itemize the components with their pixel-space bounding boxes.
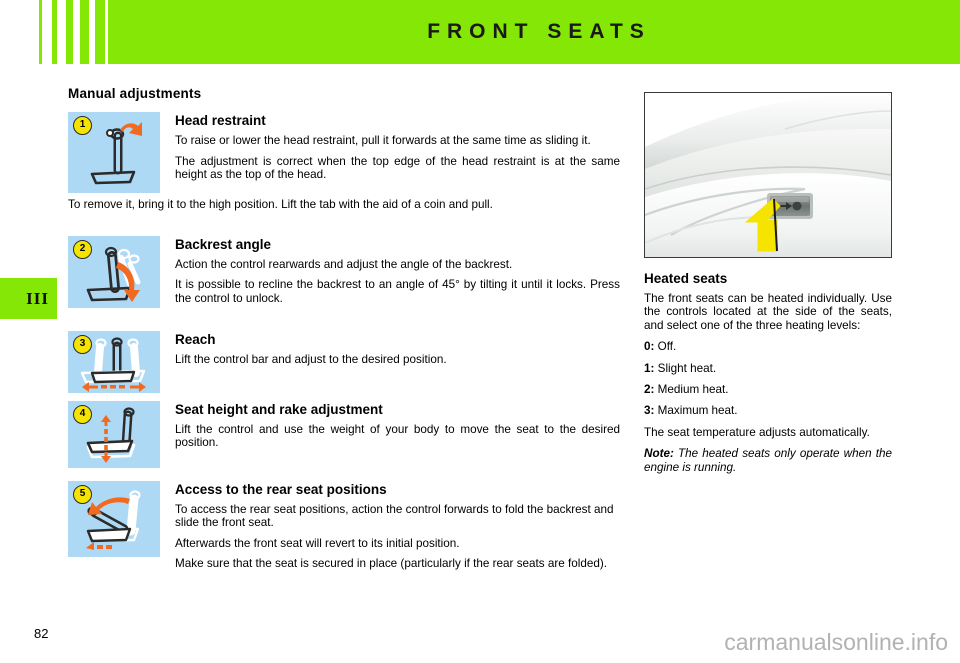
heating-level-item: 0: Off. xyxy=(644,340,892,353)
seat-access-rear-icon: 5 xyxy=(68,481,160,557)
chapter-tab: III xyxy=(0,278,57,319)
seat-backrest-angle-icon: 2 xyxy=(68,236,160,308)
header-stripe xyxy=(39,0,42,64)
section-title: Manual adjustments xyxy=(68,86,620,101)
block-paragraph: It is possible to recline the backrest t… xyxy=(175,278,620,305)
heated-seats-note: Note: The heated seats only operate when… xyxy=(644,447,892,474)
site-watermark: carmanualsonline.info xyxy=(724,629,948,656)
block-heading: Head restraint xyxy=(175,113,620,128)
heated-seats-heading: Heated seats xyxy=(644,271,892,286)
manual-adjustment-block: 4 Seat height and rake adjustment Lift t… xyxy=(68,401,620,468)
heating-level-key: 0: xyxy=(644,340,654,353)
right-column: Heated seats The front seats can be heat… xyxy=(644,92,892,474)
heated-seat-control-photo xyxy=(644,92,892,258)
block-paragraph: The adjustment is correct when the top e… xyxy=(175,155,620,182)
heating-level-key: 2: xyxy=(644,383,654,396)
block-paragraph: Lift the control bar and adjust to the d… xyxy=(175,353,620,367)
manual-adjustment-block: 3 Reach Lift the control bar and adjust … xyxy=(68,331,620,393)
manual-adjustment-block: 1 Head restraint To raise or lower the h… xyxy=(68,112,620,212)
page-number: 82 xyxy=(34,626,48,641)
heating-level-value: Off. xyxy=(658,340,677,353)
header-stripe xyxy=(66,0,73,64)
step-number-badge: 3 xyxy=(73,335,92,354)
manual-adjustment-block: 2 Backrest angle Action the control rear… xyxy=(68,236,620,308)
block-paragraph: To access the rear seat positions, actio… xyxy=(175,503,620,530)
heating-level-key: 1: xyxy=(644,362,654,375)
page-header: FRONT SEATS xyxy=(0,0,960,64)
note-label: Note: xyxy=(644,447,674,460)
auto-temperature-text: The seat temperature adjusts automatical… xyxy=(644,426,892,439)
step-number-badge: 4 xyxy=(73,405,92,424)
heating-level-item: 3: Maximum heat. xyxy=(644,404,892,417)
block-paragraph: Afterwards the front seat will revert to… xyxy=(175,537,620,551)
step-number-badge: 1 xyxy=(73,116,92,135)
seat-head-restraint-icon: 1 xyxy=(68,112,160,193)
block-heading: Reach xyxy=(175,332,620,347)
left-column: Manual adjustments 1 Head restraint To r… xyxy=(68,86,620,575)
block-heading: Seat height and rake adjustment xyxy=(175,402,620,417)
block-paragraph: Action the control rearwards and adjust … xyxy=(175,258,620,272)
block-paragraph: Make sure that the seat is secured in pl… xyxy=(175,557,620,571)
seat-reach-icon: 3 xyxy=(68,331,160,393)
heating-level-value: Maximum heat. xyxy=(658,404,738,417)
heating-level-value: Medium heat. xyxy=(658,383,729,396)
manual-adjustment-block: 5 Access to the rear seat positions To a… xyxy=(68,481,620,571)
seat-height-rake-icon: 4 xyxy=(68,401,160,468)
block-heading: Access to the rear seat positions xyxy=(175,482,620,497)
heating-level-value: Slight heat. xyxy=(658,362,716,375)
block-heading: Backrest angle xyxy=(175,237,620,252)
note-text: The heated seats only operate when the e… xyxy=(644,447,892,473)
step-number-badge: 2 xyxy=(73,240,92,259)
header-stripe xyxy=(95,0,105,64)
step-number-badge: 5 xyxy=(73,485,92,504)
block-paragraph: Lift the control and use the weight of y… xyxy=(175,423,620,450)
chapter-tab-label: III xyxy=(26,289,49,309)
heating-level-item: 1: Slight heat. xyxy=(644,362,892,375)
page-title: FRONT SEATS xyxy=(118,0,960,64)
header-stripe xyxy=(80,0,89,64)
block-paragraph: To raise or lower the head restraint, pu… xyxy=(175,134,620,148)
heated-seats-intro: The front seats can be heated individual… xyxy=(644,292,892,332)
heating-level-key: 3: xyxy=(644,404,654,417)
header-stripe xyxy=(52,0,57,64)
block-fullwidth-paragraph: To remove it, bring it to the high posit… xyxy=(68,198,620,212)
heating-level-item: 2: Medium heat. xyxy=(644,383,892,396)
